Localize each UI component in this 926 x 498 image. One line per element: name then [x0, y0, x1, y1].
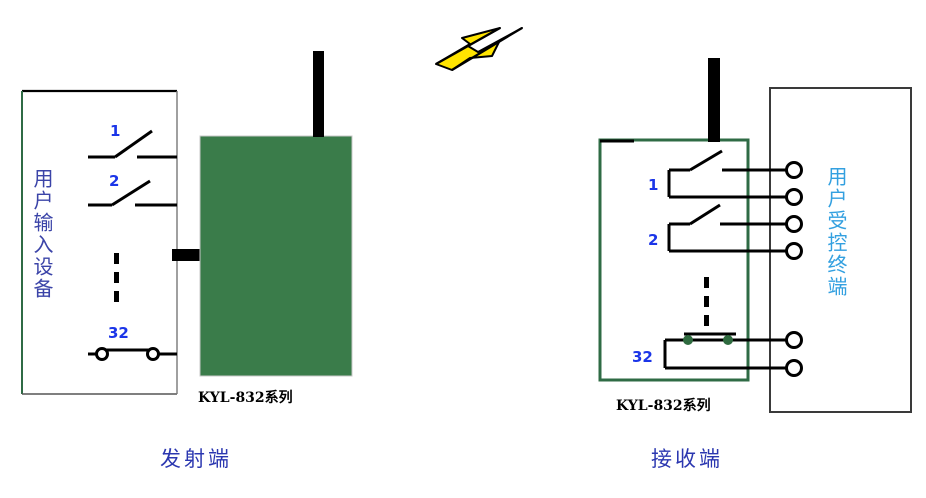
receiver-antenna: [708, 58, 720, 142]
transmitter-connector-tab: [172, 249, 204, 261]
diagram-svg: [0, 0, 926, 498]
user-input-device-label: 用户输入设备: [31, 168, 52, 368]
transmitter-model-label: KYL-832系列: [198, 387, 293, 407]
switch-number-2: 2: [109, 172, 119, 190]
switch-number-32: 32: [108, 324, 129, 342]
transmitter-caption: 发射端: [160, 443, 232, 473]
receiver-ellipsis: [704, 277, 709, 326]
relay-number-2: 2: [648, 231, 658, 249]
user-controlled-terminal-label: 用户受控终端: [825, 166, 846, 366]
switch-number-1: 1: [110, 122, 120, 140]
relay-number-32: 32: [632, 348, 653, 366]
diagram-canvas: 用户输入设备 用户受控终端 1 2 32 1 2 32 KYL-832系列 KY…: [0, 0, 926, 498]
receiver-model-label: KYL-832系列: [616, 395, 711, 415]
transmitter-ellipsis: [114, 253, 119, 302]
transmitter-antenna: [313, 51, 324, 137]
relay-number-1: 1: [648, 176, 658, 194]
transmitter-module-body: [200, 136, 352, 376]
receiver-caption: 接收端: [651, 443, 723, 473]
lightning-bolt-icon: [436, 28, 522, 70]
